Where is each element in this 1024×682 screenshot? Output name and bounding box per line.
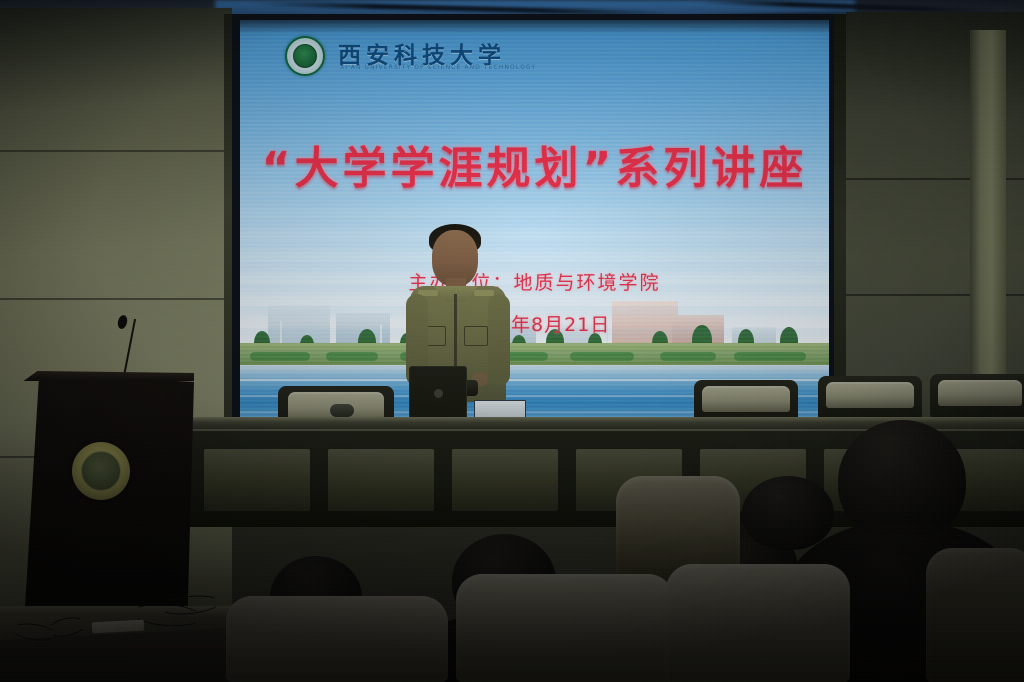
laptop-logo-icon bbox=[434, 389, 443, 398]
lecture-hall-photo: 西安科技大学 XI'AN UNIVERSITY OF SCIENCE AND T… bbox=[0, 0, 1024, 682]
speaker-pocket-right bbox=[464, 326, 488, 346]
speaker-epaulet-right bbox=[474, 290, 494, 296]
lectern-podium bbox=[18, 374, 194, 636]
auditorium-seat[interactable] bbox=[456, 574, 674, 682]
slide-university-name-en: XI'AN UNIVERSITY OF SCIENCE AND TECHNOLO… bbox=[340, 64, 536, 71]
slide-header: 西安科技大学 XI'AN UNIVERSITY OF SCIENCE AND T… bbox=[240, 20, 829, 82]
presentation-slide: 西安科技大学 XI'AN UNIVERSITY OF SCIENCE AND T… bbox=[240, 20, 829, 427]
lectern-university-emblem-icon bbox=[72, 442, 130, 500]
stage-front-lip bbox=[0, 606, 258, 616]
auditorium-seat[interactable] bbox=[926, 548, 1024, 682]
stage-chair-4[interactable] bbox=[938, 380, 1022, 406]
slide-title: “大学学涯规划”系列讲座 bbox=[240, 132, 829, 196]
led-screen: 西安科技大学 XI'AN UNIVERSITY OF SCIENCE AND T… bbox=[232, 14, 834, 432]
stage-chair-2[interactable] bbox=[702, 386, 790, 412]
auditorium-seat[interactable] bbox=[666, 564, 850, 682]
speaker-arm-right bbox=[488, 294, 510, 386]
auditorium-seat[interactable] bbox=[226, 596, 448, 682]
slide-date: 2023年8月21日 bbox=[240, 310, 829, 337]
laptop-computer[interactable] bbox=[409, 366, 467, 420]
stage-chair-3[interactable] bbox=[826, 382, 914, 408]
university-seal-icon bbox=[285, 36, 325, 76]
slide-organizer: 主办单位：地质与环境学院 bbox=[240, 268, 829, 295]
computer-mouse[interactable] bbox=[330, 404, 354, 417]
audience-head bbox=[742, 476, 834, 550]
